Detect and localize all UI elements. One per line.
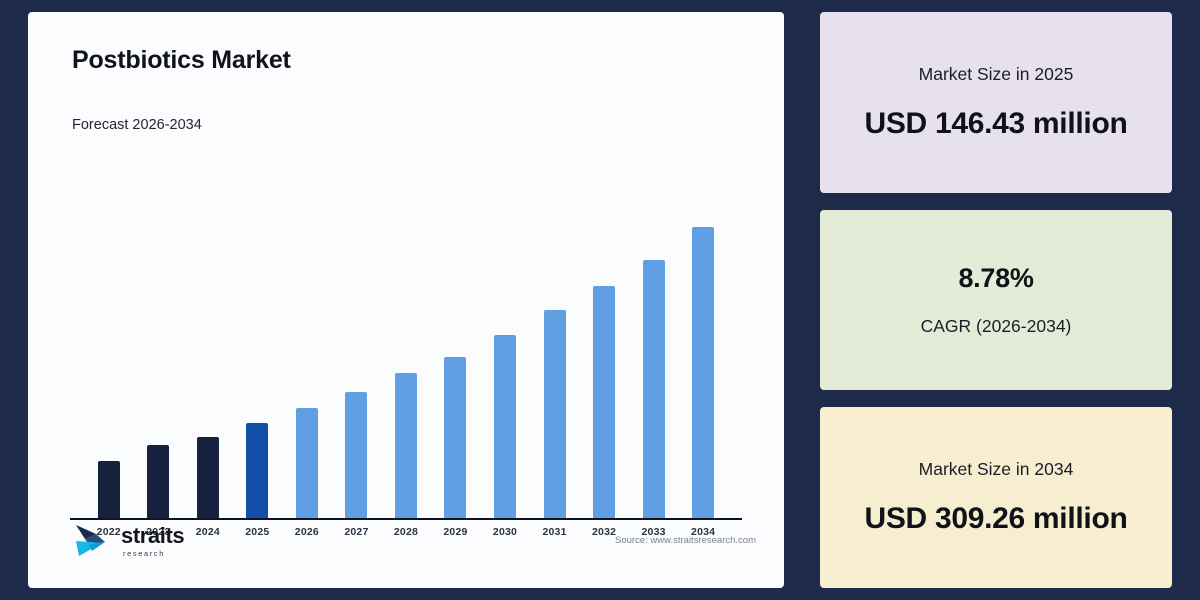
stat-card-cagr: 8.78%CAGR (2026-2034) bbox=[820, 210, 1172, 391]
bar-2024[interactable] bbox=[197, 437, 219, 518]
bar-2033[interactable] bbox=[643, 260, 665, 518]
infographic-root: Postbiotics Market Forecast 2026-2034 20… bbox=[0, 0, 1200, 600]
bar-2031[interactable] bbox=[544, 310, 566, 518]
bar-2025[interactable] bbox=[246, 423, 268, 518]
bar-slot-2033[interactable] bbox=[629, 143, 679, 518]
forecast-subtitle: Forecast 2026-2034 bbox=[72, 117, 756, 133]
bar-2026[interactable] bbox=[296, 408, 318, 518]
bar-slot-2022[interactable] bbox=[84, 143, 134, 518]
straits-research-logo: straits research bbox=[72, 521, 184, 561]
bar-slot-2025[interactable] bbox=[233, 143, 283, 518]
stat-card-label-cagr: CAGR (2026-2034) bbox=[921, 316, 1072, 337]
stat-card-value-market-size-2025: USD 146.43 million bbox=[864, 107, 1127, 141]
stat-card-label-market-size-2025: Market Size in 2025 bbox=[919, 64, 1074, 85]
logo-wordmark: straits bbox=[121, 525, 184, 547]
bar-2022[interactable] bbox=[98, 461, 120, 518]
bar-2032[interactable] bbox=[593, 286, 615, 518]
stat-card-value-cagr: 8.78% bbox=[958, 263, 1033, 294]
chart-plot-area bbox=[70, 143, 742, 518]
straits-arrow-icon bbox=[72, 521, 114, 561]
stat-card-market-size-2025: Market Size in 2025USD 146.43 million bbox=[820, 12, 1172, 193]
bar-slot-2034[interactable] bbox=[678, 143, 728, 518]
chart-panel: Postbiotics Market Forecast 2026-2034 20… bbox=[28, 12, 784, 588]
bar-slot-2026[interactable] bbox=[282, 143, 332, 518]
stat-card-market-size-2034: Market Size in 2034USD 309.26 million bbox=[820, 407, 1172, 588]
page-title: Postbiotics Market bbox=[72, 46, 756, 75]
bar-2023[interactable] bbox=[147, 445, 169, 518]
stat-cards: Market Size in 2025USD 146.43 million8.7… bbox=[820, 12, 1172, 588]
bar-2034[interactable] bbox=[692, 227, 714, 518]
logo-subtext: research bbox=[123, 550, 184, 558]
bar-2029[interactable] bbox=[444, 357, 466, 518]
bar-slot-2028[interactable] bbox=[381, 143, 431, 518]
panel-footer: straits research Source: www.straitsrese… bbox=[72, 516, 756, 566]
bar-slot-2030[interactable] bbox=[480, 143, 530, 518]
bar-slot-2023[interactable] bbox=[134, 143, 184, 518]
bar-slot-2029[interactable] bbox=[431, 143, 481, 518]
bar-slot-2024[interactable] bbox=[183, 143, 233, 518]
bar-slot-2032[interactable] bbox=[579, 143, 629, 518]
bar-slot-2027[interactable] bbox=[332, 143, 382, 518]
stat-card-value-market-size-2034: USD 309.26 million bbox=[864, 502, 1127, 536]
stat-card-label-market-size-2034: Market Size in 2034 bbox=[919, 459, 1074, 480]
logo-text: straits research bbox=[121, 525, 184, 558]
bar-2030[interactable] bbox=[494, 335, 516, 518]
bar-chart: 2022202320242025202620272028202920302031… bbox=[70, 133, 756, 570]
bar-slot-2031[interactable] bbox=[530, 143, 580, 518]
bar-2028[interactable] bbox=[395, 373, 417, 518]
source-credit: Source: www.straitsresearch.com bbox=[615, 535, 756, 546]
bar-2027[interactable] bbox=[345, 392, 367, 518]
